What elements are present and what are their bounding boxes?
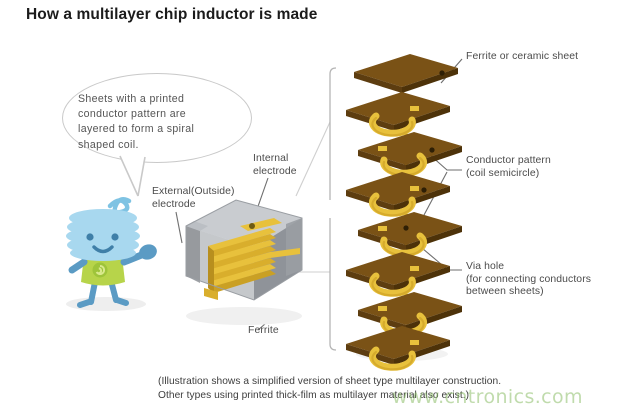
stack-bracket-lower xyxy=(330,218,336,350)
label-ferrite-or-ceramic-sheet: Ferrite or ceramic sheet xyxy=(466,51,626,64)
chip-inductor-cutaway xyxy=(178,196,308,326)
stack-sheet-6 xyxy=(346,252,450,295)
stack-sheet-5 xyxy=(358,212,462,255)
stack-bracket-upper xyxy=(330,68,336,200)
stack-sheet-4 xyxy=(346,172,450,215)
stack-sheet-2 xyxy=(346,92,450,135)
stack-sheet-8 xyxy=(346,326,450,369)
watermark-text: www.cntronics.com xyxy=(392,386,583,408)
label-external-electrode: External(Outside) electrode xyxy=(152,186,262,211)
stack-sheet-3 xyxy=(358,132,462,175)
label-internal-electrode: Internal electrode xyxy=(253,153,339,178)
label-ferrite: Ferrite xyxy=(248,325,318,338)
exploded-sheet-stack xyxy=(344,54,469,364)
diagram-canvas: How a multilayer chip inductor is made S… xyxy=(0,0,631,415)
stack-sheet-1 xyxy=(354,54,458,93)
label-via-hole: Via hole (for connecting conductors betw… xyxy=(466,261,631,299)
label-conductor-pattern: Conductor pattern (coil semicircle) xyxy=(466,155,626,180)
